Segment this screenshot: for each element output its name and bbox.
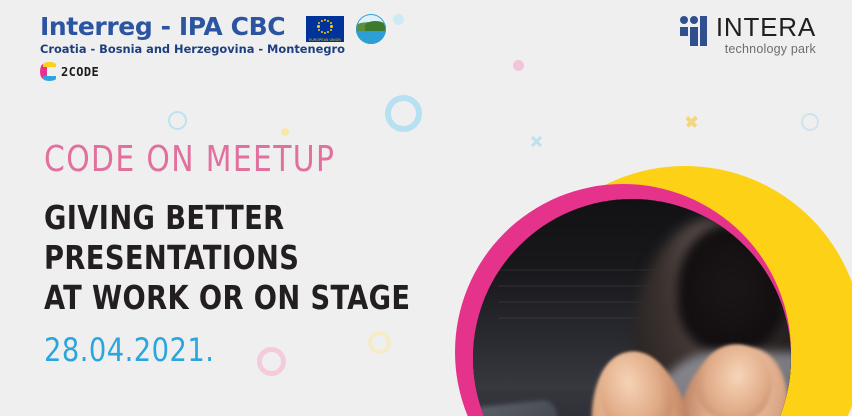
eu-star	[330, 29, 332, 31]
intera-logo: INTERA technology park	[680, 14, 816, 56]
event-date: 28.04.2021.	[44, 334, 214, 366]
blue-ring-small-shape	[168, 111, 187, 130]
programme-emblem-icon	[356, 14, 386, 44]
eu-star	[330, 25, 332, 27]
blue-cross-icon	[530, 135, 543, 148]
eu-star	[318, 22, 320, 24]
cross-bar	[686, 116, 698, 128]
interreg-title: Interreg - IPA CBC	[40, 14, 350, 39]
2code-mark-yellow-arc	[43, 62, 56, 67]
pink-dot-top-shape	[513, 60, 524, 71]
intera-tagline: technology park	[716, 43, 816, 56]
meeting-photo	[473, 199, 791, 416]
2code-mark-icon	[40, 62, 57, 81]
pink-ring-bottom-shape	[257, 347, 286, 376]
headline-line-2: PRESENTATIONS	[44, 238, 410, 278]
yellow-cross-icon	[685, 115, 698, 128]
eyebrow-label: CODE ON MEETUP	[44, 142, 335, 178]
intera-mark-icon	[680, 16, 707, 46]
intera-mark-block-1	[680, 27, 688, 36]
eu-star	[324, 32, 326, 34]
cyan-dot-top-shape	[393, 14, 404, 25]
headline-line-3: AT WORK OR ON STAGE	[44, 278, 410, 318]
eu-star	[324, 19, 326, 21]
eu-star	[321, 20, 323, 22]
intera-mark-dot-2	[690, 16, 698, 24]
2code-wordmark: 2CODE	[61, 65, 99, 79]
photo-person-hair	[677, 224, 785, 351]
eu-star	[317, 25, 319, 27]
yellow-dot-shape	[281, 128, 289, 136]
interreg-logo: Interreg - IPA CBC Croatia - Bosnia and …	[40, 14, 350, 55]
cross-bar	[531, 136, 542, 147]
intera-wordmark: INTERA	[716, 14, 816, 40]
event-poster: Interreg - IPA CBC Croatia - Bosnia and …	[0, 0, 852, 416]
project-logo-2code: 2CODE	[40, 62, 99, 81]
intera-mark-block-2	[690, 27, 698, 46]
blue-ring-medium-shape	[385, 95, 422, 132]
eu-star	[330, 22, 332, 24]
headline-line-1: GIVING BETTER	[44, 198, 410, 238]
eu-star	[327, 31, 329, 33]
intera-mark-dot-1	[680, 16, 688, 24]
intera-mark-bar	[700, 16, 707, 46]
yellow-ring-bottom-shape	[368, 331, 391, 354]
page-title: GIVING BETTER PRESENTATIONS AT WORK OR O…	[44, 198, 410, 318]
eu-flag-caption: EUROPEAN UNION	[306, 38, 344, 42]
eu-stars	[306, 16, 344, 37]
cross-bar	[531, 136, 542, 147]
eu-flag-icon: EUROPEAN UNION	[306, 16, 344, 42]
photo-composition	[455, 172, 852, 416]
blue-ring-tiny-shape	[801, 113, 819, 131]
cross-bar	[686, 116, 698, 128]
2code-mark-blue-arc	[43, 76, 56, 81]
emblem-border	[356, 14, 386, 44]
interreg-subtitle: Croatia - Bosnia and Herzegovina - Monte…	[40, 44, 350, 55]
intera-text-block: INTERA technology park	[716, 14, 816, 56]
eu-star	[321, 31, 323, 33]
